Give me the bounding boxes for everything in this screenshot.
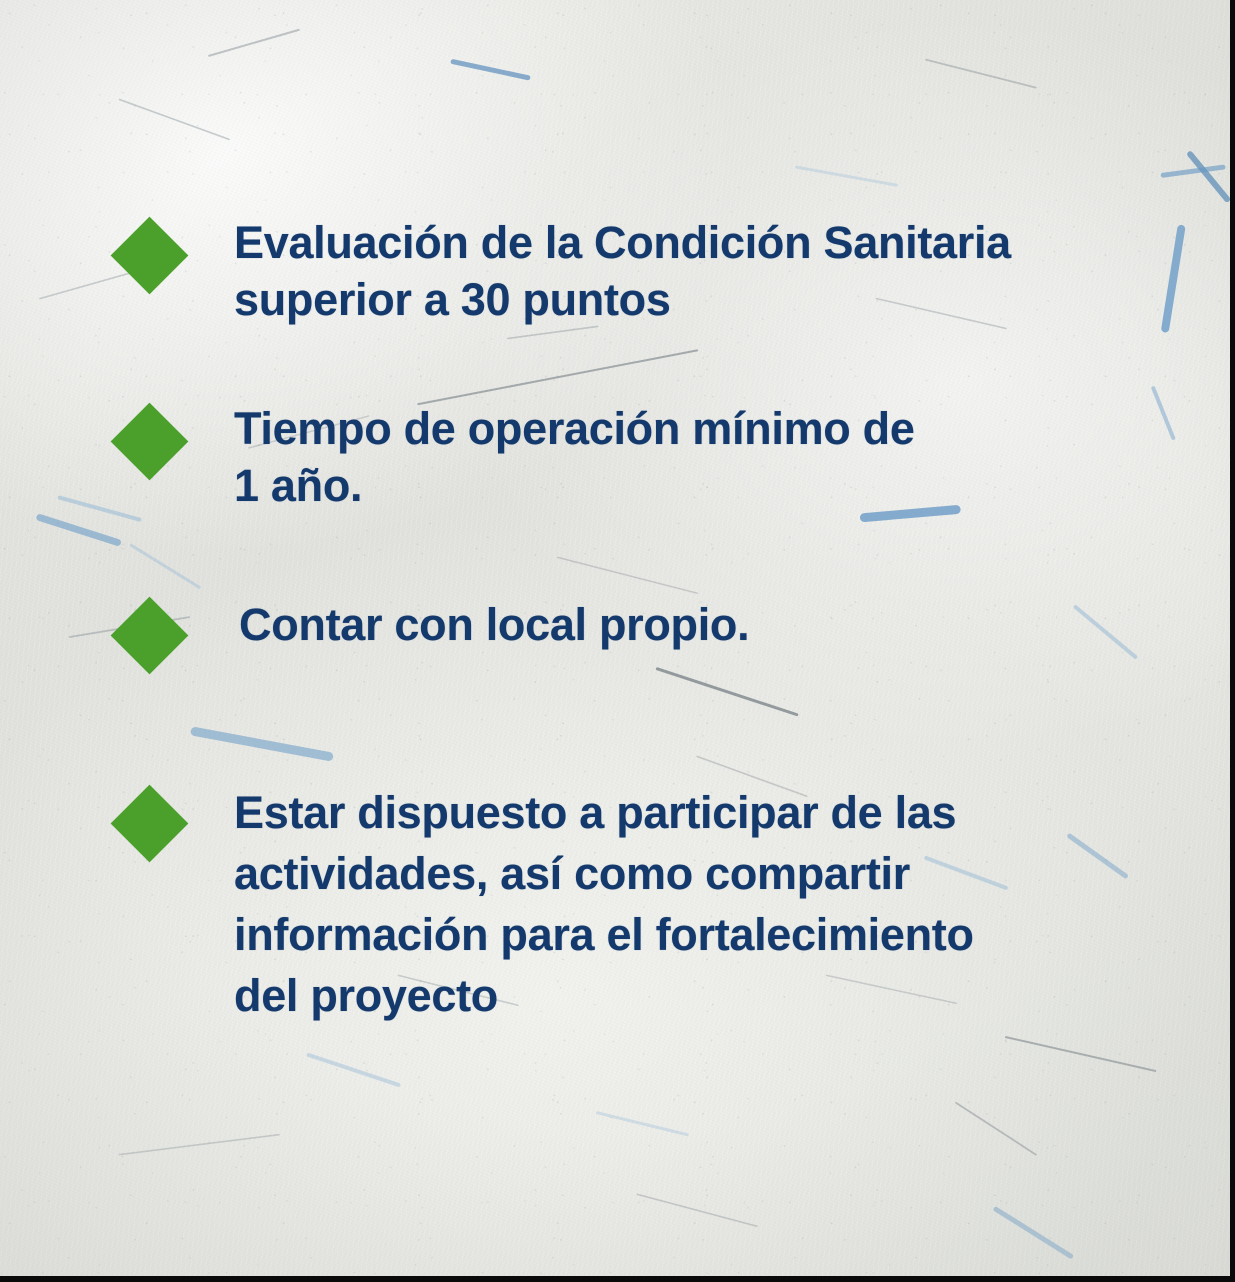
bullet-list: Evaluación de la Condición Sanitaria sup…	[0, 0, 1230, 1276]
list-item-label: Contar con local propio.	[239, 596, 749, 653]
green-diamond-icon	[111, 785, 189, 863]
list-item: Estar dispuesto a participar de las acti…	[122, 786, 974, 1026]
list-item: Evaluación de la Condición Sanitaria sup…	[122, 218, 1011, 328]
list-item-label: Tiempo de operación mínimo de 1 año.	[234, 400, 915, 514]
list-item: Contar con local propio.	[122, 598, 749, 663]
list-item-label: Evaluación de la Condición Sanitaria sup…	[234, 214, 1011, 328]
green-diamond-icon	[111, 403, 189, 481]
green-diamond-icon	[111, 217, 189, 295]
requirements-poster: Evaluación de la Condición Sanitaria sup…	[0, 0, 1235, 1282]
list-item: Tiempo de operación mínimo de 1 año.	[122, 404, 915, 514]
green-diamond-icon	[111, 597, 189, 675]
list-item-label: Estar dispuesto a participar de las acti…	[234, 782, 974, 1026]
